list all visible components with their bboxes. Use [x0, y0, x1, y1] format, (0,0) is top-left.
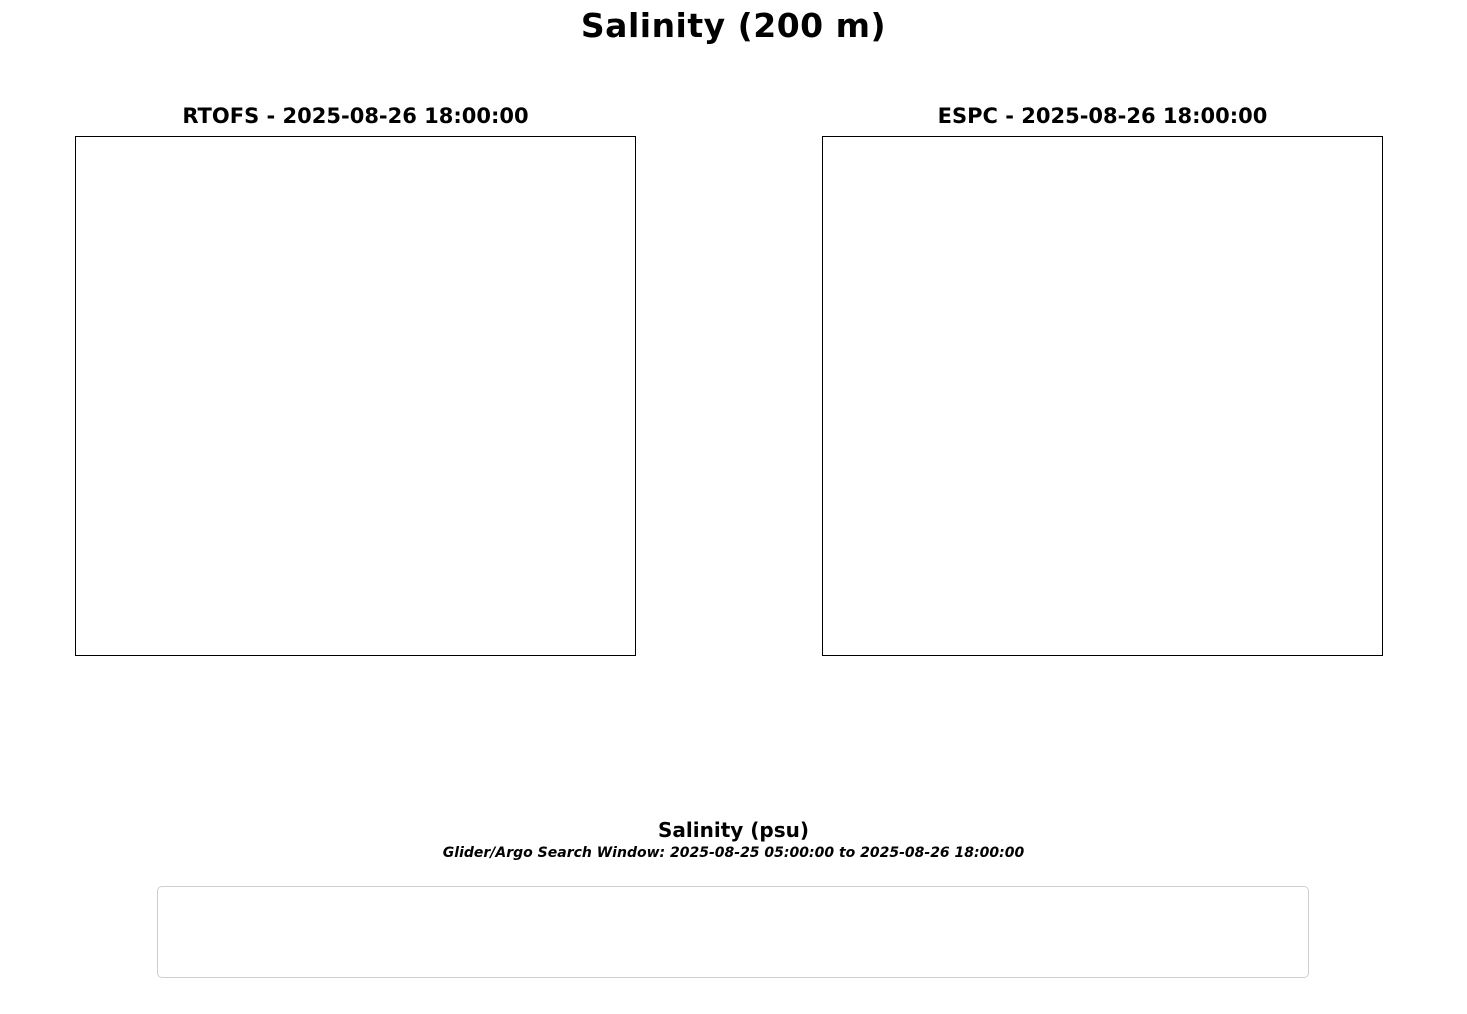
- colorbar-tick-labels: [0, 793, 1467, 819]
- map-panel-espc[interactable]: [822, 136, 1383, 656]
- map-panel-rtofs[interactable]: [75, 136, 636, 656]
- figure-canvas: Salinity (200 m) RTOFS - 2025-08-26 18:0…: [0, 0, 1467, 1014]
- figure-title: Salinity (200 m): [0, 6, 1467, 45]
- search-window-caption: Glider/Argo Search Window: 2025-08-25 05…: [0, 845, 1467, 861]
- panel-title-rtofs: RTOFS - 2025-08-26 18:00:00: [75, 104, 636, 128]
- float-legend[interactable]: [157, 886, 1309, 978]
- colorbar: [30, 765, 1440, 793]
- panel-title-espc: ESPC - 2025-08-26 18:00:00: [822, 104, 1383, 128]
- legend-grid: [170, 894, 1298, 970]
- colorbar-title: Salinity (psu): [0, 818, 1467, 842]
